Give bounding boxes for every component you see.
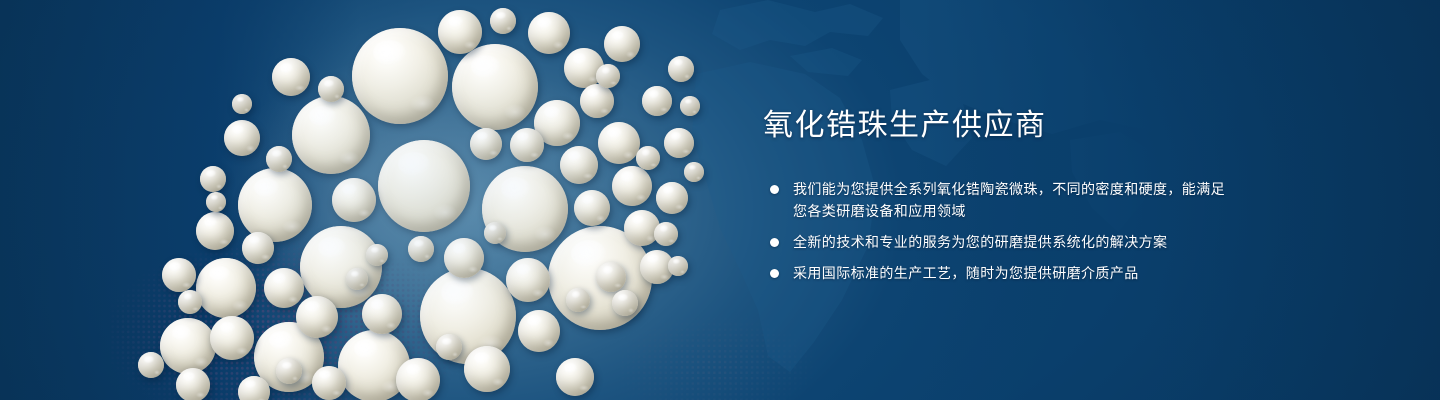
bead — [510, 128, 544, 162]
feature-text: 我们能为您提供全系列氧化锆陶瓷微珠，不同的密度和硬度，能满足您各类研磨设备和应用… — [793, 181, 1225, 219]
bead — [200, 166, 226, 192]
bead — [366, 244, 388, 266]
bead — [668, 56, 694, 82]
bead — [272, 58, 310, 96]
bead — [596, 262, 626, 292]
bead — [206, 192, 226, 212]
bead — [436, 334, 462, 360]
bead — [596, 64, 620, 88]
bead — [574, 190, 610, 226]
bead — [352, 28, 448, 124]
bead — [656, 182, 688, 214]
bead — [420, 268, 516, 364]
bead — [266, 146, 292, 172]
bead — [362, 294, 402, 334]
bead — [518, 310, 560, 352]
bead — [464, 346, 510, 392]
bead — [238, 168, 312, 242]
feature-text: 采用国际标准的生产工艺，随时为您提供研磨介质产品 — [793, 265, 1139, 281]
bead — [196, 212, 234, 250]
bead — [612, 166, 652, 206]
bead — [438, 10, 482, 54]
bead — [210, 316, 254, 360]
bead — [408, 236, 434, 262]
bead — [490, 8, 516, 34]
bullet-dot-icon — [770, 185, 779, 194]
banner-copy-block: 氧化锆珠生产供应商 我们能为您提供全系列氧化锆陶瓷微珠，不同的密度和硬度，能满足… — [763, 108, 1233, 284]
bead — [684, 162, 704, 182]
bead — [242, 232, 274, 264]
bead — [560, 146, 598, 184]
bead — [292, 96, 370, 174]
feature-list-item: 采用国际标准的生产工艺，随时为您提供研磨介质产品 — [763, 262, 1233, 284]
bead — [664, 128, 694, 158]
bead — [296, 296, 338, 338]
bead — [636, 146, 660, 170]
bead — [332, 178, 376, 222]
bead — [276, 358, 302, 384]
feature-text: 全新的技术和专业的服务为您的研磨提供系统化的解决方案 — [793, 234, 1167, 250]
bead — [264, 268, 304, 308]
bullet-dot-icon — [770, 238, 779, 247]
bead — [162, 258, 196, 292]
feature-list-item: 全新的技术和专业的服务为您的研磨提供系统化的解决方案 — [763, 231, 1233, 253]
bead — [176, 368, 210, 400]
promotional-banner: 氧化锆珠生产供应商 我们能为您提供全系列氧化锆陶瓷微珠，不同的密度和硬度，能满足… — [0, 0, 1440, 400]
bead — [580, 84, 614, 118]
bead — [506, 258, 550, 302]
bead — [470, 128, 502, 160]
bead — [604, 26, 640, 62]
bead — [238, 376, 270, 400]
bead — [642, 86, 672, 116]
bead — [378, 140, 470, 232]
bead — [318, 76, 344, 102]
bead — [232, 94, 252, 114]
bead — [680, 96, 700, 116]
bead — [566, 288, 590, 312]
bead — [196, 258, 256, 318]
bead — [484, 222, 506, 244]
bead — [654, 222, 678, 246]
feature-list-item: 我们能为您提供全系列氧化锆陶瓷微珠，不同的密度和硬度，能满足您各类研磨设备和应用… — [763, 178, 1233, 222]
zirconia-beads-cluster-image — [0, 0, 760, 400]
bead — [312, 366, 346, 400]
bead — [160, 318, 216, 374]
bead — [396, 358, 440, 400]
bead — [452, 44, 538, 130]
bead — [668, 256, 688, 276]
bead — [528, 12, 570, 54]
feature-list: 我们能为您提供全系列氧化锆陶瓷微珠，不同的密度和硬度，能满足您各类研磨设备和应用… — [763, 178, 1233, 284]
bead — [612, 290, 638, 316]
bead — [346, 268, 368, 290]
bead — [598, 122, 640, 164]
bead — [556, 358, 594, 396]
bullet-dot-icon — [770, 269, 779, 278]
bead — [444, 238, 484, 278]
bead — [138, 352, 164, 378]
bead — [178, 290, 202, 314]
banner-headline: 氧化锆珠生产供应商 — [763, 108, 1233, 144]
bead — [224, 120, 260, 156]
